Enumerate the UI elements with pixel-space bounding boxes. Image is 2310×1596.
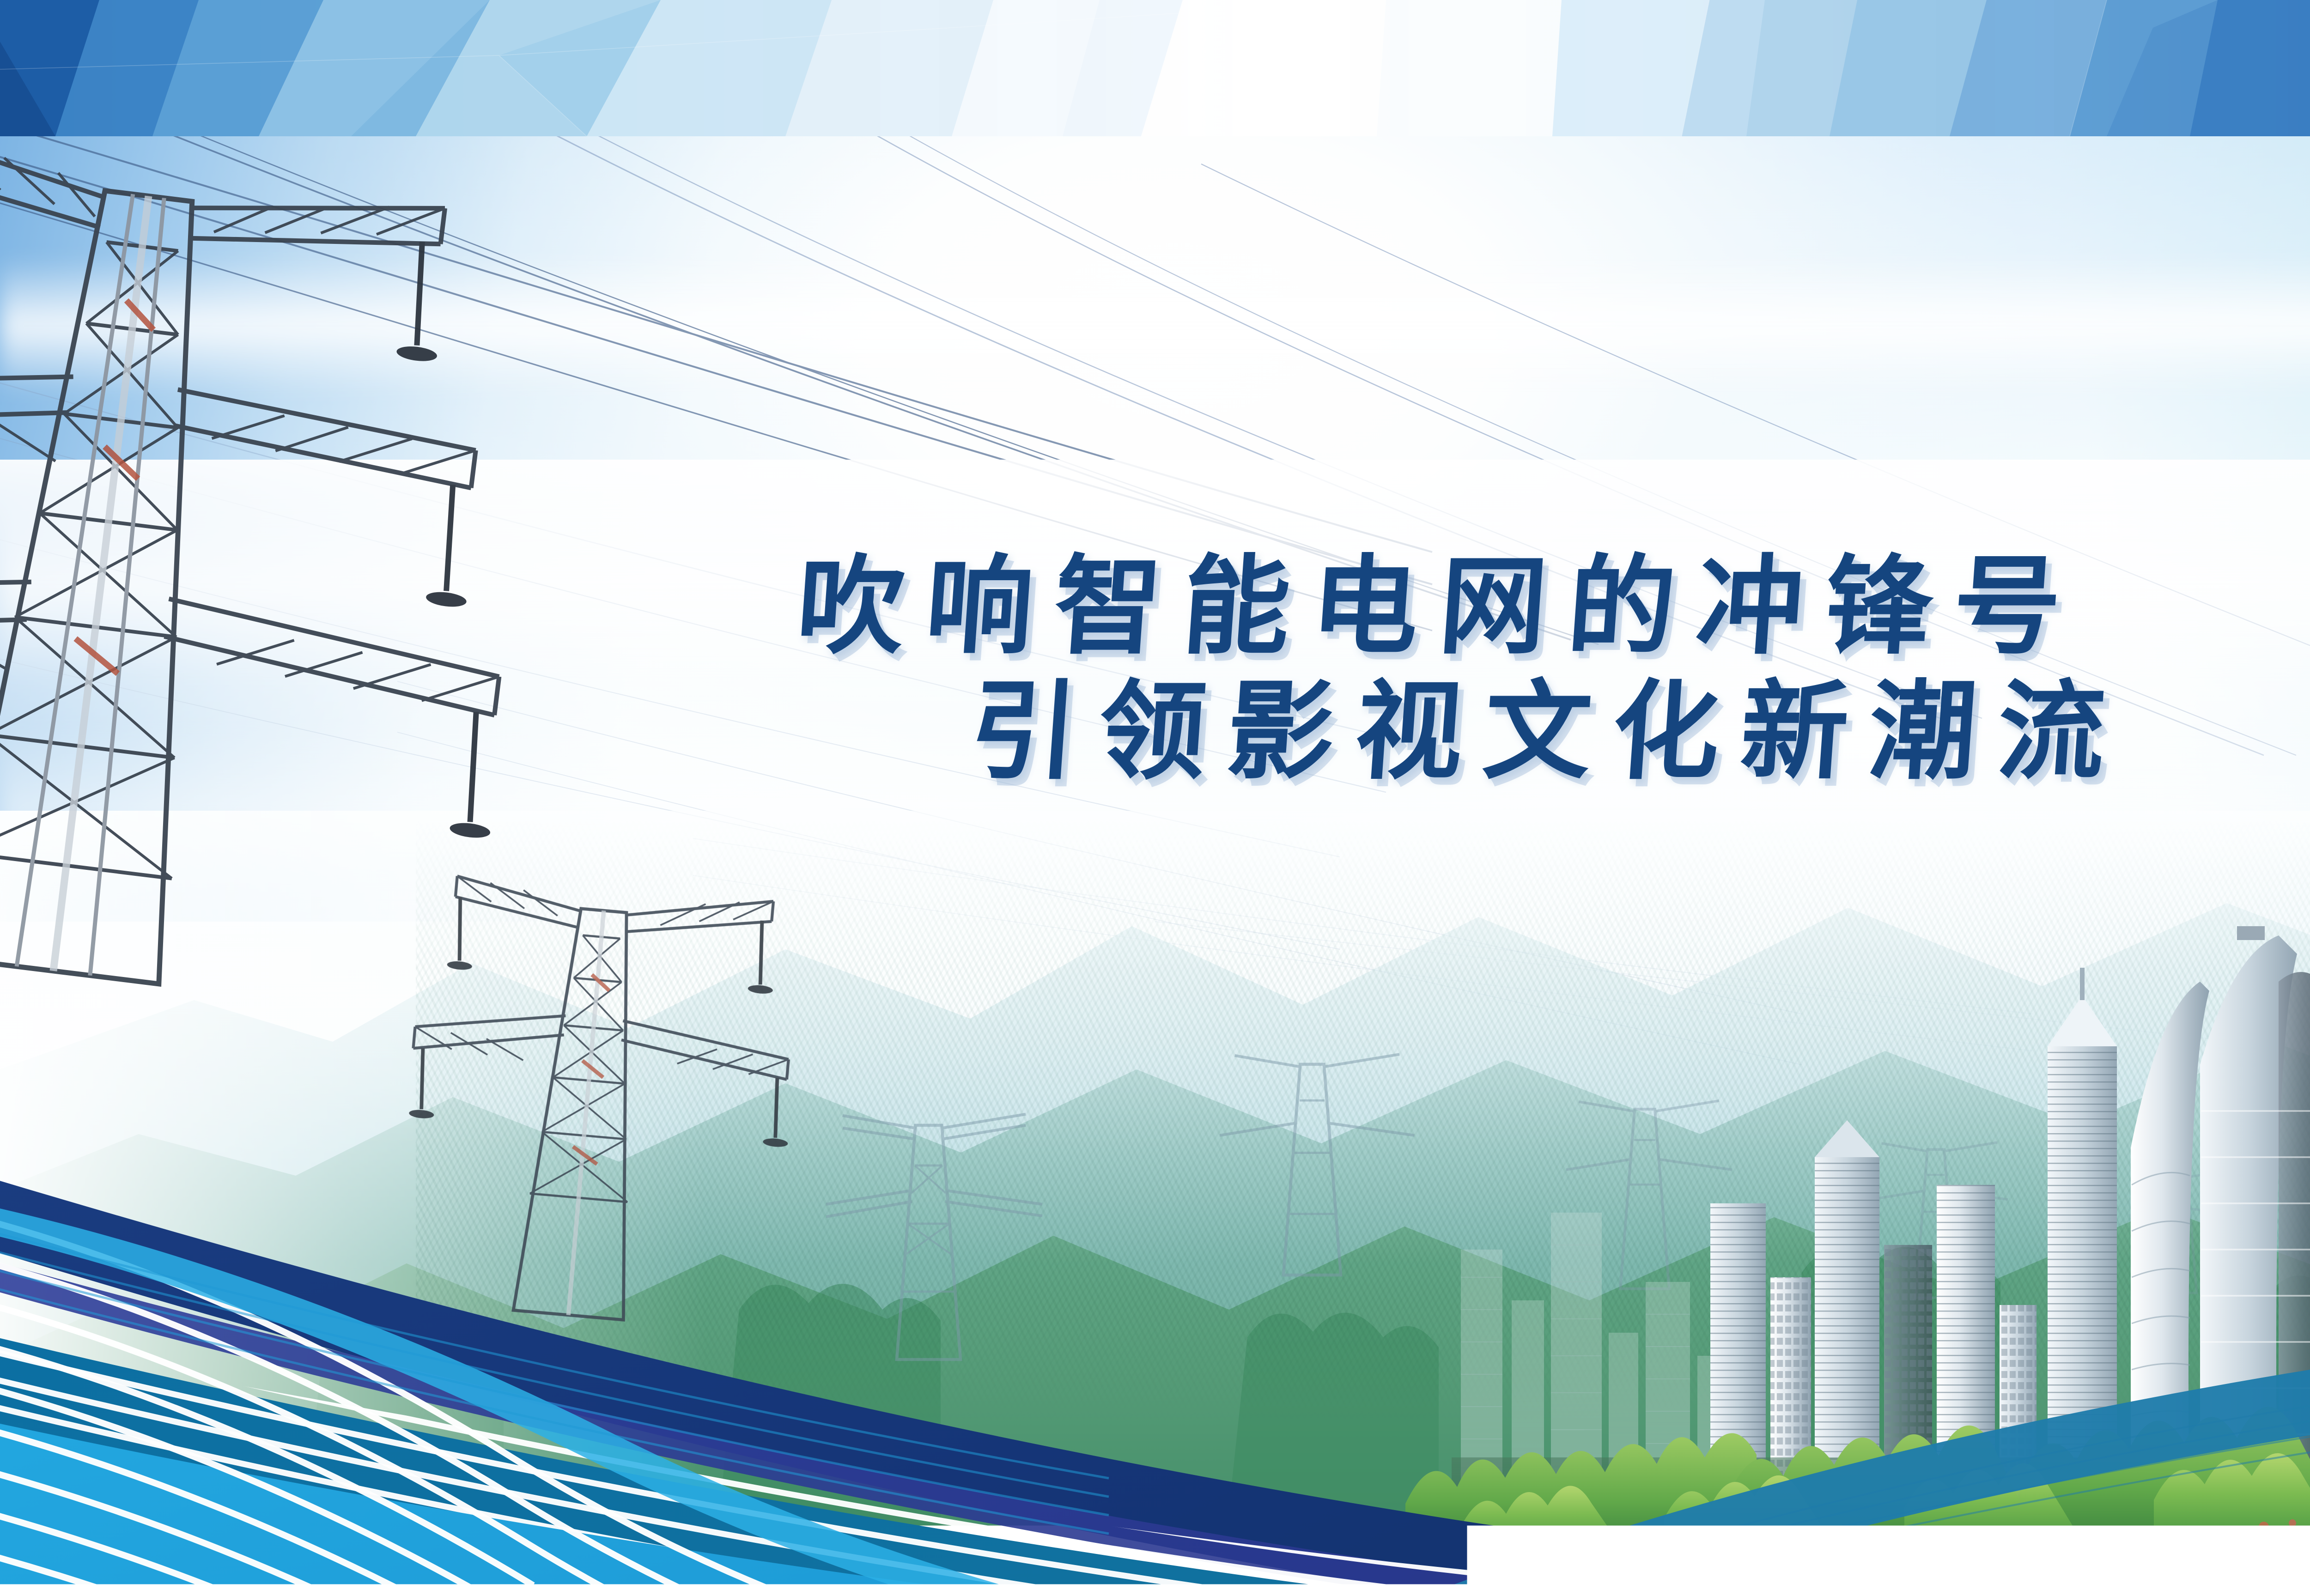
landscape-photo-scene bbox=[0, 136, 2310, 1596]
poster-canvas: 吹响智能电网的冲锋号 引领影视文化新潮流 bbox=[0, 0, 2310, 1596]
top-geometric-band bbox=[0, 0, 2310, 136]
riverside-trees bbox=[1405, 1310, 2310, 1568]
